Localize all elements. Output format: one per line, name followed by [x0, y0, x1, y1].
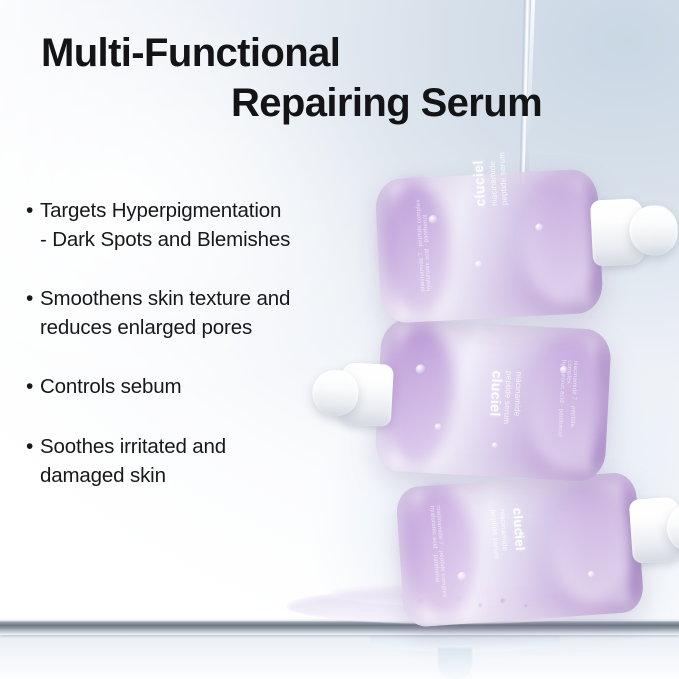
benefit-item: •Soothes irritated and damaged skin: [26, 432, 386, 490]
bottle-variant-label: niacinamide peptide serum: [487, 152, 510, 206]
under-shelf-gradient: [0, 635, 679, 679]
bullet-dot-icon: •: [26, 196, 40, 226]
benefit-text: Soothes irritated and damaged skin: [40, 432, 226, 490]
benefit-text: Controls sebum: [40, 372, 181, 401]
bullet-dot-icon: •: [26, 432, 40, 462]
bottle-brand-label: cluciel: [510, 507, 528, 551]
headline-line-1: Multi-Functional: [41, 30, 641, 76]
headline: Multi-FunctionalRepairing Serum: [41, 30, 641, 127]
benefit-text: Targets Hyperpigmentation - Dark Spots a…: [40, 196, 290, 254]
bullet-dot-icon: •: [26, 372, 40, 402]
benefit-item: •Controls sebum: [26, 372, 386, 402]
bottle-variant-label: niacinamide peptide serum: [501, 371, 524, 425]
benefits-list: •Targets Hyperpigmentation - Dark Spots …: [26, 196, 386, 520]
headline-line-2: Repairing Serum: [41, 80, 641, 126]
benefit-text: Smoothens skin texture and reduces enlar…: [40, 284, 290, 342]
serum-drip-tail: [438, 648, 472, 679]
bottle-variant-label: niacinamide peptide serum: [488, 509, 510, 560]
benefit-item: •Smoothens skin texture and reduces enla…: [26, 284, 386, 342]
bottle-brand-label: cluciel: [470, 160, 488, 207]
product-bottle-top: cluciel niacinamide peptide serum niacin…: [366, 154, 679, 331]
benefit-item: •Targets Hyperpigmentation - Dark Spots …: [26, 196, 386, 254]
bullet-dot-icon: •: [26, 284, 40, 314]
product-hero-image: cluciel niacinamide peptide serum niacin…: [0, 0, 679, 679]
